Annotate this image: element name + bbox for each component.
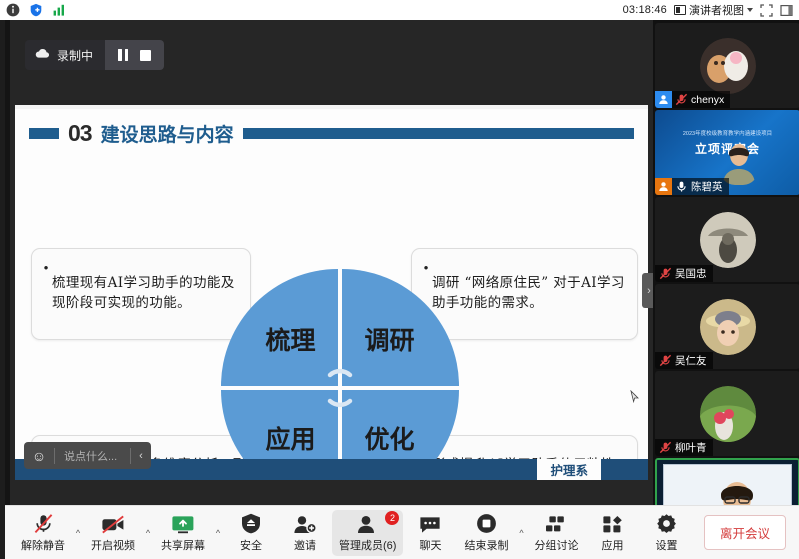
info-icon[interactable] [5,3,20,18]
toolbar-apps-button[interactable]: 应用 [585,510,639,556]
toolbar-video-button[interactable]: 开启视频 [84,510,142,556]
shared-screen-stage: 录制中 03 建设思路与内容 • 梳理现有AI学习助手的功 [10,20,653,505]
avatar [700,212,756,268]
participant-nametag: chenyx [655,91,730,108]
participant-name: 柳叶青 [675,440,707,455]
invite-user-icon [293,512,317,534]
chevron-left-icon[interactable]: ‹ [131,450,151,462]
host-badge-icon [655,91,672,108]
participant-name: chenyx [691,94,724,106]
title-bar-right [243,128,634,139]
unmute-options-caret[interactable]: ^ [72,510,84,556]
meeting-body: 录制中 03 建设思路与内容 • 梳理现有AI学习助手的功 [5,20,799,559]
window-icon[interactable] [780,4,793,17]
recording-buttons [105,40,164,70]
callout-text: 调研 “网络原住民” 对于AI学习助手功能的需求。 [432,274,627,314]
toolbar-manage-participants-button[interactable]: 2 管理成员(6) [332,510,403,556]
toolbar-label: 共享屏幕 [161,537,205,553]
participant-tile[interactable]: chenyx [655,23,799,108]
mic-muted-icon [659,441,672,454]
cycle-diagram: 梳理 调研 应用 优化 [221,269,459,480]
participant-nametag: 吴仁友 [655,352,713,369]
shield-icon [241,512,261,534]
participant-name: 陈碧英 [691,179,723,194]
toolbar-chat-button[interactable]: 聊天 [403,510,457,556]
cloud-icon [35,48,50,62]
recording-label: 录制中 [57,47,93,64]
panel-collapse-handle[interactable]: › [642,273,653,308]
chat-placeholder[interactable]: 说点什么... [55,448,130,464]
chat-input-bar[interactable]: ☺ 说点什么... ‹ [24,442,151,469]
leave-meeting-button[interactable]: 离开会议 [704,515,786,550]
toolbar-label: 邀请 [294,537,316,553]
toolbar-label: 解除静音 [21,537,65,553]
video-off-icon [101,512,125,534]
toolbar-label: 开启视频 [91,537,135,553]
breakout-rooms-icon [545,512,567,534]
participants-icon [356,512,380,534]
participant-tile[interactable]: 柳叶青 [655,371,799,456]
mouse-cursor [630,390,639,403]
video-options-caret[interactable]: ^ [142,510,154,556]
slide-title: 建设思路与内容 [101,120,234,147]
chevron-down-icon [747,8,753,12]
view-mode-label: 演讲者视图 [689,2,744,18]
toolbar-label: 分组讨论 [534,537,578,553]
meeting-toolbar: 解除静音 ^ 开启视频 ^ 共享屏幕 ^ 安全 [5,505,799,559]
avatar [700,299,756,355]
pause-icon[interactable] [118,49,128,61]
toolbar-invite-button[interactable]: 邀请 [278,510,332,556]
slide-header: 03 建设思路与内容 [29,119,634,147]
meeting-timer: 03:18:46 [623,4,667,16]
slide-number: 03 [68,122,92,145]
mic-muted-icon [659,267,672,280]
toolbar-label: 管理成员(6) [339,537,396,553]
shield-icon[interactable] [28,3,43,18]
presentation-slide: 03 建设思路与内容 • 梳理现有AI学习助手的功能及现阶段可实现的功能。 • … [15,105,648,480]
apps-icon [602,512,623,534]
share-options-caret[interactable]: ^ [212,510,224,556]
mic-active-icon [675,180,688,193]
participants-badge: 2 [385,511,399,525]
participant-tile[interactable]: 2023年度校级教育教学内涵建设项目 立项评审会 陈碧英 [655,110,799,195]
title-bar-left [29,128,59,139]
slide-top-band [15,105,648,109]
toolbar-label: 设置 [655,537,677,553]
participant-rail: chenyx 2023年度校级教育教学内涵建设项目 立项评审会 [653,20,799,539]
emoji-icon[interactable]: ☺ [24,448,54,464]
toolbar-label: 应用 [601,537,623,553]
toolbar-label: 聊天 [419,537,441,553]
participant-name: 吴国忠 [675,266,707,281]
toolbar-label: 安全 [240,537,262,553]
toolbar-stop-recording-button[interactable]: 结束录制 [457,510,515,556]
mic-muted-icon [675,93,688,106]
toolbar-settings-button[interactable]: 设置 [639,510,693,556]
chat-icon [419,512,441,534]
recording-status: 录制中 [25,40,105,70]
participant-nametag: 吴国忠 [655,265,713,282]
callout-box-shuli: • 梳理现有AI学习助手的功能及现阶段可实现的功能。 [31,248,251,340]
avatar [700,38,756,94]
stop-icon[interactable] [140,50,151,61]
participant-name: 吴仁友 [675,353,707,368]
participant-tile[interactable]: 吴国忠 [655,197,799,282]
fullscreen-icon[interactable] [760,4,773,17]
record-options-caret[interactable]: ^ [515,510,527,556]
host-badge-icon [655,178,672,195]
thumb-line-1: 2023年度校级教育教学内涵建设项目 [655,129,799,137]
callout-text: 梳理现有AI学习助手的功能及现阶段可实现的功能。 [52,274,240,314]
gear-icon [656,512,677,534]
mic-muted-icon [659,354,672,367]
toolbar-share-button[interactable]: 共享屏幕 [154,510,212,556]
mic-muted-icon [33,512,54,534]
cycle-arrow-icon [314,361,366,415]
slide-footer-label: 护理系 [537,459,601,480]
zoom-meeting-window: 03:18:46 演讲者视图 录制中 [0,0,799,559]
signal-bars-icon[interactable] [51,3,66,18]
stop-record-icon [476,512,497,534]
view-mode-selector[interactable]: 演讲者视图 [674,2,753,18]
recording-controls: 录制中 [25,40,164,70]
toolbar-security-button[interactable]: 安全 [224,510,278,556]
toolbar-unmute-button[interactable]: 解除静音 [14,510,72,556]
browser-toolbar-strip: 03:18:46 演讲者视图 [0,0,799,20]
participant-nametag: 陈碧英 [655,178,729,195]
share-screen-icon [171,512,195,534]
avatar [700,386,756,442]
participant-nametag: 柳叶青 [655,439,713,456]
bullet-icon: • [40,258,52,275]
toolbar-breakout-rooms-button[interactable]: 分组讨论 [527,510,585,556]
toolbar-label: 结束录制 [464,537,508,553]
speaker-view-icon [674,5,686,15]
participant-tile[interactable]: 吴仁友 [655,284,799,369]
